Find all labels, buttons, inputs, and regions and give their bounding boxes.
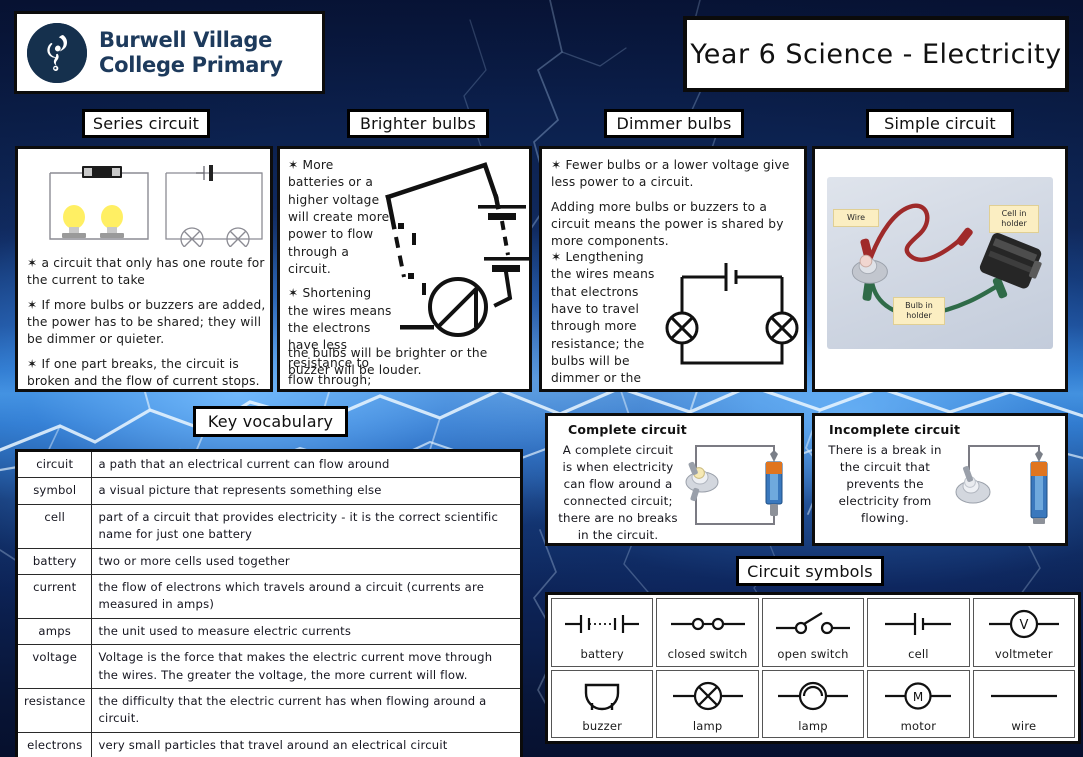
symbol-label: buzzer — [582, 719, 622, 733]
symbol-cell-battery: battery — [551, 598, 653, 667]
symbol-cell-buzzer: buzzer — [551, 670, 653, 739]
wire-symbol-icon — [985, 675, 1063, 717]
vocabulary-term: electrons — [17, 732, 92, 757]
dimmer-bulbs-body-left: ✶ Lengthening the wires means that elect… — [551, 249, 661, 392]
series-bullet-3: ✶ If one part breaks, the circuit is bro… — [27, 356, 267, 391]
label-brighter-bulbs-text: Brighter bulbs — [360, 114, 476, 133]
series-circuit-diagram — [26, 155, 268, 247]
vocabulary-term: amps — [17, 618, 92, 644]
symbol-label: lamp — [798, 719, 828, 733]
complete-circuit-diagram — [678, 432, 798, 540]
school-name-line2: College Primary — [99, 53, 283, 77]
series-circuit-body: ✶ a circuit that only has one route for … — [27, 255, 267, 392]
dimmer-bullet-3: ✶ Lengthening the wires means that elect… — [551, 249, 661, 392]
vocabulary-definition: part of a circuit that provides electric… — [92, 504, 522, 548]
brighter-bullet-1: ✶ More batteries or a higher voltage wil… — [288, 157, 393, 278]
page-title: Year 6 Science - Electricity — [690, 39, 1061, 70]
school-logo-banner: Burwell Village College Primary — [14, 11, 325, 94]
dimmer-bulbs-diagram — [662, 259, 802, 379]
vocabulary-definition: a visual picture that represents somethi… — [92, 478, 522, 504]
table-row: ampsthe unit used to measure electric cu… — [17, 618, 522, 644]
label-simple-circuit-text: Simple circuit — [884, 114, 996, 133]
symbol-cell-closed-switch: closed switch — [656, 598, 758, 667]
vocabulary-definition: the flow of electrons which travels arou… — [92, 574, 522, 618]
label-complete-circuit: Complete circuit — [568, 422, 687, 437]
symbol-cell-voltmeter: V voltmeter — [973, 598, 1075, 667]
table-row: cellpart of a circuit that provides elec… — [17, 504, 522, 548]
panel-complete-circuit: Complete circuit A complete circuit is w… — [545, 413, 804, 546]
incomplete-circuit-diagram — [943, 432, 1063, 540]
table-row: circuita path that an electrical current… — [17, 451, 522, 478]
label-circuit-symbols: Circuit symbols — [736, 556, 884, 586]
panel-incomplete-circuit: Incomplete circuit There is a break in t… — [812, 413, 1068, 546]
vocabulary-term: symbol — [17, 478, 92, 504]
open-switch-symbol-icon — [774, 603, 852, 645]
series-bullet-2: ✶ If more bulbs or buzzers are added, th… — [27, 297, 267, 349]
incomplete-circuit-body: There is a break in the circuit that pre… — [823, 442, 947, 527]
series-bullet-1: ✶ a circuit that only has one route for … — [27, 255, 267, 290]
dimmer-bulbs-body-top: ✶ Fewer bulbs or a lower voltage give le… — [551, 157, 801, 258]
label-key-vocabulary-text: Key vocabulary — [208, 412, 333, 431]
cell-symbol-icon — [879, 603, 957, 645]
closed-switch-symbol-icon — [669, 603, 747, 645]
lamp-cross-symbol-icon — [669, 675, 747, 717]
complete-circuit-body: A complete circuit is when electricity c… — [556, 442, 680, 545]
vocabulary-term: cell — [17, 504, 92, 548]
table-row: resistancethe difficulty that the electr… — [17, 688, 522, 732]
vocabulary-definition: two or more cells used together — [92, 548, 522, 574]
panel-simple-circuit: Wire Cell in holder Bulb in holder — [812, 146, 1068, 392]
table-row: symbola visual picture that represents s… — [17, 478, 522, 504]
vocabulary-rows: circuita path that an electrical current… — [17, 451, 522, 757]
symbol-cell-lamp-cross: lamp — [656, 670, 758, 739]
symbol-cell-cell: cell — [867, 598, 969, 667]
brighter-bulbs-body-bottom: the bulbs will be brighter or the buzzer… — [288, 345, 526, 387]
symbol-cell-motor: M motor — [867, 670, 969, 739]
table-row: voltageVoltage is the force that makes t… — [17, 645, 522, 689]
battery-symbol-icon — [563, 603, 641, 645]
poster-title-box: Year 6 Science - Electricity — [683, 16, 1069, 92]
panel-dimmer-bulbs: ✶ Fewer bulbs or a lower voltage give le… — [539, 146, 807, 392]
circuit-symbols-grid: battery closed switch — [545, 592, 1081, 744]
swan-logo-icon — [27, 23, 87, 83]
panel-series-circuit: ✶ a circuit that only has one route for … — [15, 146, 273, 392]
svg-text:M: M — [913, 690, 923, 704]
motor-symbol-icon: M — [879, 675, 957, 717]
voltmeter-symbol-icon: V — [985, 603, 1063, 645]
label-series-circuit: Series circuit — [82, 109, 210, 138]
vocabulary-definition: the difficulty that the electric current… — [92, 688, 522, 732]
dimmer-bullet-2: Adding more bulbs or buzzers to a circui… — [551, 199, 801, 251]
label-key-vocabulary: Key vocabulary — [193, 406, 348, 437]
symbol-label: wire — [1011, 719, 1036, 733]
symbol-label: cell — [908, 647, 929, 661]
symbol-label: lamp — [693, 719, 723, 733]
label-simple-circuit: Simple circuit — [866, 109, 1014, 138]
label-dimmer-bulbs: Dimmer bulbs — [604, 109, 744, 138]
table-row: electronsvery small particles that trave… — [17, 732, 522, 757]
panel-brighter-bulbs: ✶ More batteries or a higher voltage wil… — [277, 146, 532, 392]
label-brighter-bulbs: Brighter bulbs — [347, 109, 489, 138]
symbol-cell-wire: wire — [973, 670, 1075, 739]
table-row: batterytwo or more cells used together — [17, 548, 522, 574]
symbol-label: motor — [901, 719, 937, 733]
photo-tag-cell: Cell in holder — [989, 205, 1039, 233]
buzzer-symbol-icon — [572, 675, 632, 717]
table-row: currentthe flow of electrons which trave… — [17, 574, 522, 618]
school-name: Burwell Village College Primary — [99, 28, 283, 76]
label-circuit-symbols-text: Circuit symbols — [747, 562, 873, 581]
symbol-label: closed switch — [668, 647, 748, 661]
symbol-label: voltmeter — [995, 647, 1053, 661]
lamp-loop-symbol-icon — [774, 675, 852, 717]
symbol-label: open switch — [777, 647, 848, 661]
label-incomplete-circuit: Incomplete circuit — [829, 422, 960, 437]
dimmer-bullet-1: ✶ Fewer bulbs or a lower voltage give le… — [551, 157, 801, 192]
vocabulary-definition: very small particles that travel around … — [92, 732, 522, 757]
label-dimmer-bulbs-text: Dimmer bulbs — [616, 114, 731, 133]
simple-circuit-photo: Wire Cell in holder Bulb in holder — [827, 177, 1053, 349]
symbol-cell-open-switch: open switch — [762, 598, 864, 667]
vocabulary-definition: Voltage is the force that makes the elec… — [92, 645, 522, 689]
vocabulary-term: circuit — [17, 451, 92, 478]
vocabulary-definition: a path that an electrical current can fl… — [92, 451, 522, 478]
vocabulary-term: current — [17, 574, 92, 618]
brighter-bullet-3: the bulbs will be brighter or the buzzer… — [288, 345, 526, 380]
school-name-line1: Burwell Village — [99, 28, 283, 52]
vocabulary-term: battery — [17, 548, 92, 574]
poster-canvas: Burwell Village College Primary Year 6 S… — [0, 0, 1083, 757]
vocabulary-term: resistance — [17, 688, 92, 732]
label-series-circuit-text: Series circuit — [93, 114, 199, 133]
photo-tag-wire: Wire — [833, 209, 879, 227]
symbol-cell-lamp-loop: lamp — [762, 670, 864, 739]
photo-tag-bulb: Bulb in holder — [893, 297, 945, 325]
vocabulary-definition: the unit used to measure electric curren… — [92, 618, 522, 644]
symbol-label: battery — [581, 647, 624, 661]
svg-text:V: V — [1019, 618, 1028, 633]
vocabulary-term: voltage — [17, 645, 92, 689]
key-vocabulary-table: circuita path that an electrical current… — [15, 449, 523, 757]
brighter-bulbs-diagram — [380, 155, 532, 350]
